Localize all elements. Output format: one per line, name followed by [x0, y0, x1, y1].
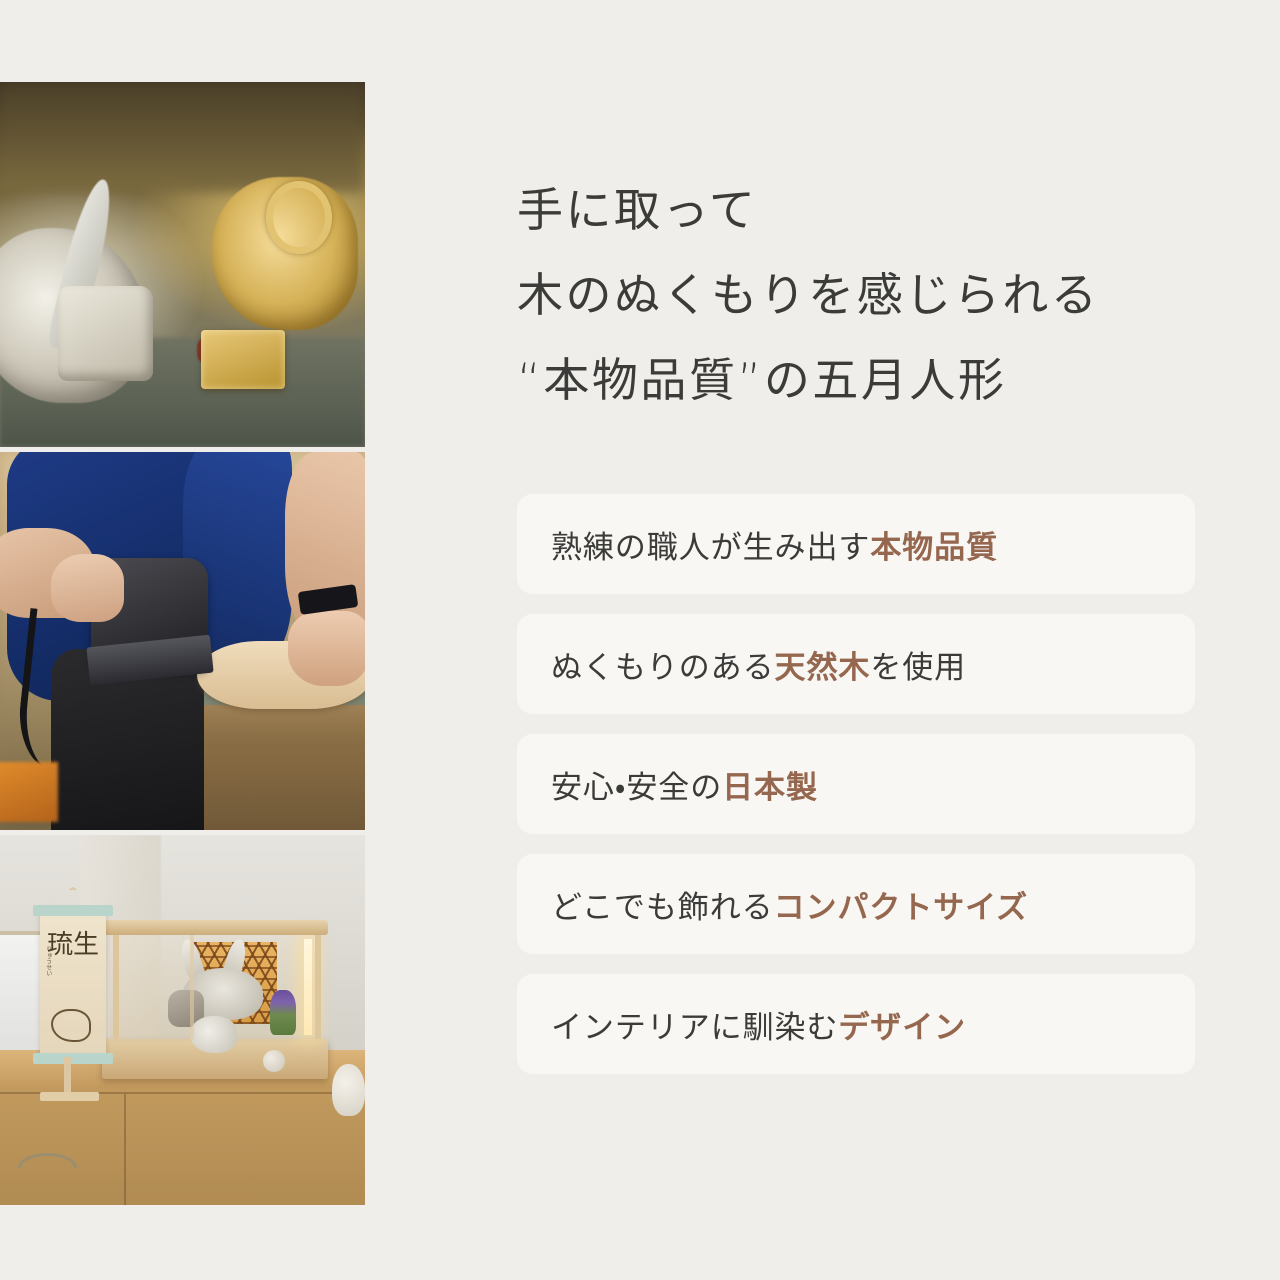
feature-card: 安心・安全の日本製	[517, 734, 1195, 834]
lp-page: 琉生 りゅうせい 手に取って 木のぬくもりを感じられる “本物品質”の五月人形 …	[0, 0, 1280, 1280]
feature-text-accent: 日本製	[722, 770, 818, 806]
silver-fitting	[58, 286, 153, 381]
background-blur	[0, 82, 365, 192]
gold-box-fitting	[201, 330, 285, 388]
decorative-ball	[263, 1050, 285, 1072]
feature-text-accent: デザイン	[838, 1010, 966, 1046]
armor-parts-photo	[0, 82, 365, 447]
decorative-flower	[270, 990, 296, 1034]
feature-card-text: どこでも飾れるコンパクトサイズ	[551, 882, 1028, 927]
kabuto-cord-knot	[190, 1016, 237, 1053]
gold-ring-ornament	[266, 181, 332, 254]
feature-card-text: 熟練の職人が生み出す本物品質	[551, 522, 998, 567]
page-headline: 手に取って 木のぬくもりを感じられる “本物品質”の五月人形	[517, 168, 1195, 423]
display-case-photo: 琉生 りゅうせい	[0, 835, 365, 1205]
name-flag-stand	[64, 1057, 71, 1094]
display-case-top	[102, 920, 328, 935]
feature-text-tail: を使用	[870, 650, 966, 686]
snake-illustration	[51, 1009, 91, 1042]
feature-text-accent: 本物品質	[870, 530, 998, 566]
name-flag-foot	[40, 1092, 98, 1101]
photo-column: 琉生 りゅうせい	[0, 82, 365, 1205]
craftsman-sanding-photo	[0, 452, 365, 830]
feature-card-text: 安心・安全の日本製	[551, 762, 818, 807]
feature-text-plain: ぬくもりのある	[551, 650, 775, 686]
feature-text-plain: どこでも飾れる	[551, 890, 774, 926]
orange-crate	[0, 762, 58, 822]
feature-text-accent: 天然木	[775, 650, 871, 686]
name-flag-reading: りゅうせい	[44, 946, 53, 976]
feature-text-plain: 安心・安全の	[551, 770, 722, 806]
feature-text-plain: インテリアに馴染む	[551, 1010, 838, 1046]
feature-card-text: インテリアに馴染むデザイン	[551, 1002, 966, 1047]
feature-card: 熟練の職人が生み出す本物品質	[517, 494, 1195, 594]
armor-parts-scene	[0, 82, 365, 447]
content-column: 手に取って 木のぬくもりを感じられる “本物品質”の五月人形 熟練の職人が生み出…	[517, 0, 1195, 1280]
bunny-ornament	[332, 1064, 365, 1116]
feature-card-text: ぬくもりのある天然木を使用	[551, 642, 966, 687]
interior-scene: 琉生 りゅうせい	[0, 835, 365, 1205]
feature-list: 熟練の職人が生み出す本物品質 ぬくもりのある天然木を使用 安心・安全の日本製 ど…	[517, 494, 1195, 1094]
craftsman-scene	[0, 452, 365, 830]
feature-text-accent: コンパクトサイズ	[774, 890, 1029, 926]
feature-card: インテリアに馴染むデザイン	[517, 974, 1195, 1074]
case-post-right	[315, 931, 321, 1038]
feature-text-plain: 熟練の職人が生み出す	[551, 530, 870, 566]
case-post-left	[113, 931, 119, 1038]
case-post-middle	[190, 931, 194, 1038]
right-hand	[288, 611, 365, 687]
case-light	[304, 939, 312, 1035]
feature-card: どこでも飾れるコンパクトサイズ	[517, 854, 1195, 954]
drawer-divider	[124, 1094, 126, 1205]
feature-card: ぬくもりのある天然木を使用	[517, 614, 1195, 714]
